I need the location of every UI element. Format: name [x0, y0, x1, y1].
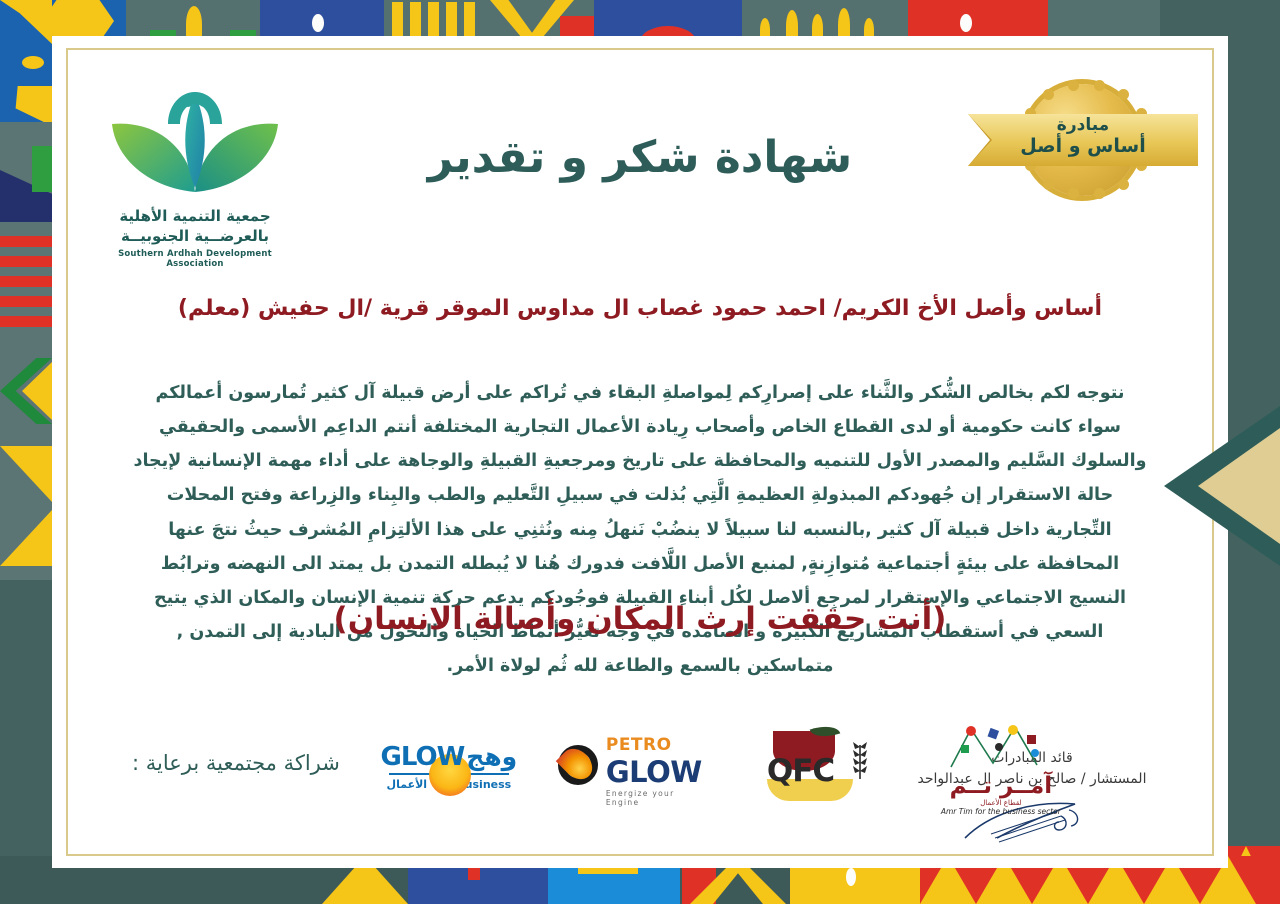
initiative-seal: مبادرة أساس و أصل	[968, 84, 1198, 204]
chevron-arrow-graphic	[1080, 396, 1280, 576]
sponsor-logo-amr-tim: آمــر تــم لقطاع الأعمال Amr Tim for the…	[926, 720, 1076, 812]
pattern-stripe-red	[0, 316, 52, 327]
closing-slogan: (أنت حققت إرث المكان وأصالة الانسان)	[52, 601, 1228, 637]
amr-name-en: Amr Tim for the business sector	[936, 807, 1066, 816]
seal-notch	[1094, 80, 1105, 91]
petro-tagline: Energize your Engine	[606, 789, 708, 807]
pattern-stripe-red	[0, 256, 52, 267]
confetti-icon	[941, 723, 1061, 769]
amr-name-ar: آمــر تــم	[936, 773, 1066, 799]
sponsor-logo-qfc: QFC	[742, 720, 892, 812]
association-name-ar-line2: بالعرضــية الجنوبيــة	[90, 226, 300, 246]
certificate-header: مبادرة أساس و أصل	[52, 54, 1228, 254]
qfc-name: QFC	[767, 753, 834, 789]
pattern-stripe-red	[0, 276, 52, 287]
seal-text: مبادرة أساس و أصل	[968, 116, 1198, 157]
petro-name-top: PETRO	[606, 735, 708, 755]
pattern-dot	[960, 14, 972, 32]
seal-line-2: أساس و أصل	[968, 136, 1198, 158]
certificate-card: مبادرة أساس و أصل	[52, 36, 1228, 868]
seal-notch	[1068, 80, 1079, 91]
glow-name-ar: وهج	[466, 742, 517, 771]
certificate-root: مبادرة أساس و أصل	[0, 0, 1280, 904]
seal-notch	[1043, 89, 1054, 100]
certificate-body-text: نتوجه لكم بخالص الشُّكر والثَّناء على إص…	[132, 376, 1148, 683]
glow-sub-ar: الأعمال	[387, 778, 428, 791]
decorative-border-left	[0, 0, 52, 904]
amr-sub-ar: لقطاع الأعمال	[936, 799, 1066, 807]
pattern-dot	[312, 14, 324, 32]
recipient-name-line: أساس وأصل الأخ الكريم/ احمد حمود غصاب ال…	[122, 294, 1158, 325]
pattern-dot-yellow	[22, 56, 44, 69]
petro-name-main: GLOW	[606, 755, 708, 789]
sponsors-row: شراكة مجتمعية برعاية : وهج GLOW Business…	[132, 714, 1142, 818]
sponsor-logo-petro-glow: PETRO GLOW Energize your Engine	[558, 720, 708, 812]
pattern-shape-green	[32, 146, 52, 192]
glow-name-en: GLOW	[381, 742, 465, 772]
sponsors-label: شراكة مجتمعية برعاية :	[132, 751, 340, 781]
pattern-stripe-red	[0, 236, 52, 247]
association-name-ar-line1: جمعية التنمية الأهلية	[90, 206, 300, 226]
seal-line-1: مبادرة	[968, 116, 1198, 136]
seal-notch	[1094, 188, 1105, 199]
pattern-stripe-red	[0, 296, 52, 307]
pattern-dot	[846, 868, 856, 886]
association-name-en: Southern Ardhah Development Association	[90, 249, 300, 269]
sponsor-logo-glow-business: وهج GLOW Business الأعمال	[374, 720, 524, 812]
wheat-icon	[849, 739, 871, 779]
seal-notch	[1068, 188, 1079, 199]
seal-notch	[1118, 89, 1129, 100]
